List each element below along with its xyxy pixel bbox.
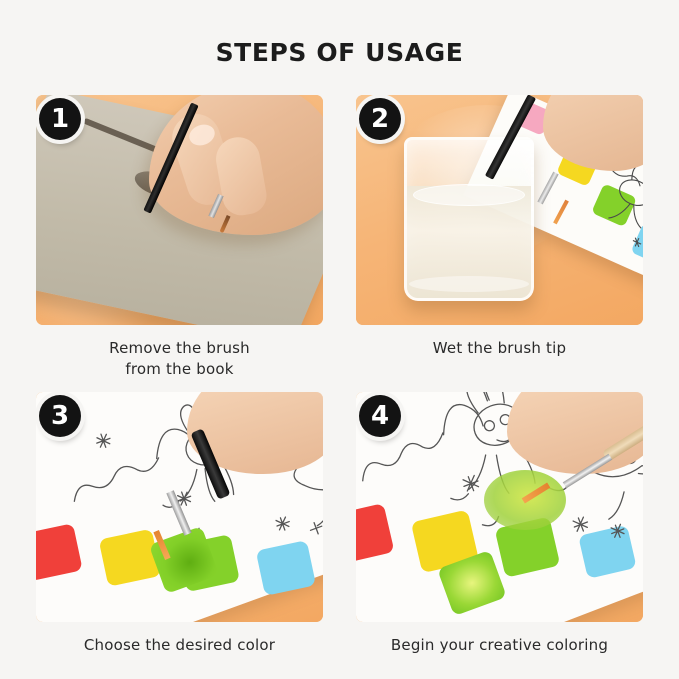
- step-number-badge-2: 2: [359, 98, 401, 140]
- step-card-3: 3 Choose the desired color: [36, 392, 323, 656]
- step-4-photo: 4: [356, 392, 643, 622]
- swatch-red: [356, 503, 395, 564]
- step-1-photo: 1: [36, 95, 323, 325]
- step-caption-4: Begin your creative coloring: [356, 635, 643, 656]
- step-number-badge-1: 1: [39, 98, 81, 140]
- water-surface: [413, 184, 525, 206]
- swatch-blue: [578, 525, 637, 579]
- step-3-photo: 3: [36, 392, 323, 622]
- step-caption-1: Remove the brush from the book: [36, 338, 323, 380]
- water-glass: [404, 137, 534, 301]
- swatch-blue: [631, 223, 643, 267]
- step-2-photo: 2: [356, 95, 643, 325]
- step-caption-3: Choose the desired color: [36, 635, 323, 656]
- step-number-badge-4: 4: [359, 395, 401, 437]
- step-card-4: 4 Begin your creative coloring: [356, 392, 643, 656]
- page-title: STEPS OF USAGE: [0, 38, 679, 67]
- steps-grid: 1 Remove the brush from the book: [36, 95, 643, 656]
- steps-of-usage-infographic: STEPS OF USAGE 1 Remove the brush from t: [0, 0, 679, 679]
- step-number-badge-3: 3: [39, 395, 81, 437]
- swatch-red: [36, 523, 83, 581]
- step-caption-2: Wet the brush tip: [356, 338, 643, 359]
- swatch-green: [591, 183, 637, 227]
- step-card-2: 2 Wet the brush tip: [356, 95, 643, 380]
- glass-base: [409, 276, 529, 292]
- swatch-yellow: [99, 529, 162, 587]
- step-card-1: 1 Remove the brush from the book: [36, 95, 323, 380]
